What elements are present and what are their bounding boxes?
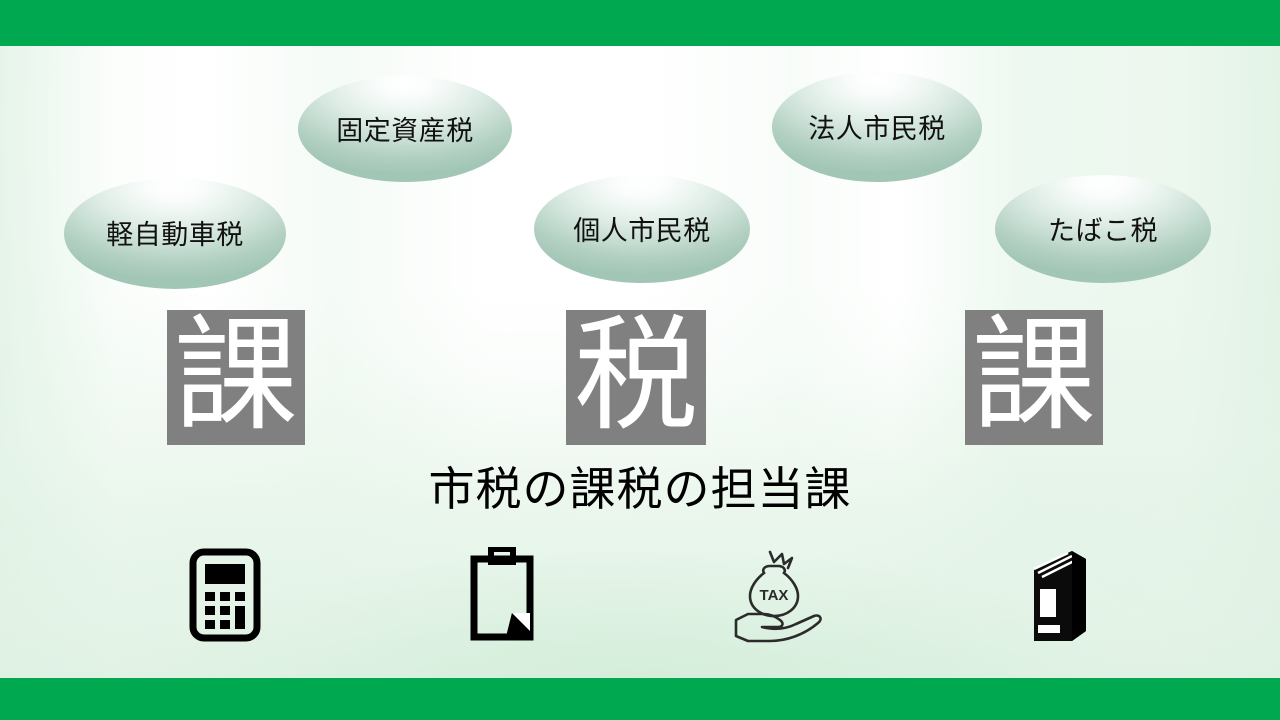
- tax-bubble-light-motor-vehicle[interactable]: 軽自動車税: [64, 178, 286, 289]
- icon-row: TAX: [140, 540, 1140, 650]
- tax-bubble-corporate-municipal[interactable]: 法人市民税: [772, 72, 982, 182]
- binder-file-icon: [970, 540, 1140, 650]
- tax-bubble-tobacco[interactable]: たばこ税: [995, 175, 1211, 283]
- plaque-character: 課: [174, 314, 298, 438]
- plaque-character: 課: [972, 314, 1096, 438]
- slide-canvas: 軽自動車税 固定資産税 個人市民税 法人市民税 たばこ税 課 税 課 市税の課税…: [0, 0, 1280, 720]
- tax-bubble-label: たばこ税: [1048, 218, 1158, 245]
- ka-plaque-right[interactable]: 課: [965, 310, 1103, 445]
- tax-bubble-fixed-asset[interactable]: 固定資産税: [298, 76, 512, 182]
- tax-bubble-label: 固定資産税: [336, 118, 474, 145]
- tax-bubble-label: 法人市民税: [808, 116, 946, 143]
- tax-bubble-label: 個人市民税: [573, 218, 711, 245]
- plaque-character: 税: [574, 314, 698, 438]
- bottom-green-band: [0, 678, 1280, 720]
- tax-bubble-label: 軽自動車税: [106, 222, 244, 249]
- page-title: 市税の課税の担当課: [0, 466, 1280, 512]
- zei-plaque-center[interactable]: 税: [566, 310, 706, 445]
- tax-bubble-individual-municipal[interactable]: 個人市民税: [534, 175, 750, 283]
- tax-bag-text: TAX: [760, 587, 789, 604]
- calculator-icon: [140, 540, 310, 650]
- ka-plaque-left[interactable]: 課: [167, 310, 305, 445]
- tax-money-bag-in-hand-icon: TAX: [693, 540, 863, 650]
- clipboard-document-icon: [417, 540, 587, 650]
- top-green-band: [0, 0, 1280, 46]
